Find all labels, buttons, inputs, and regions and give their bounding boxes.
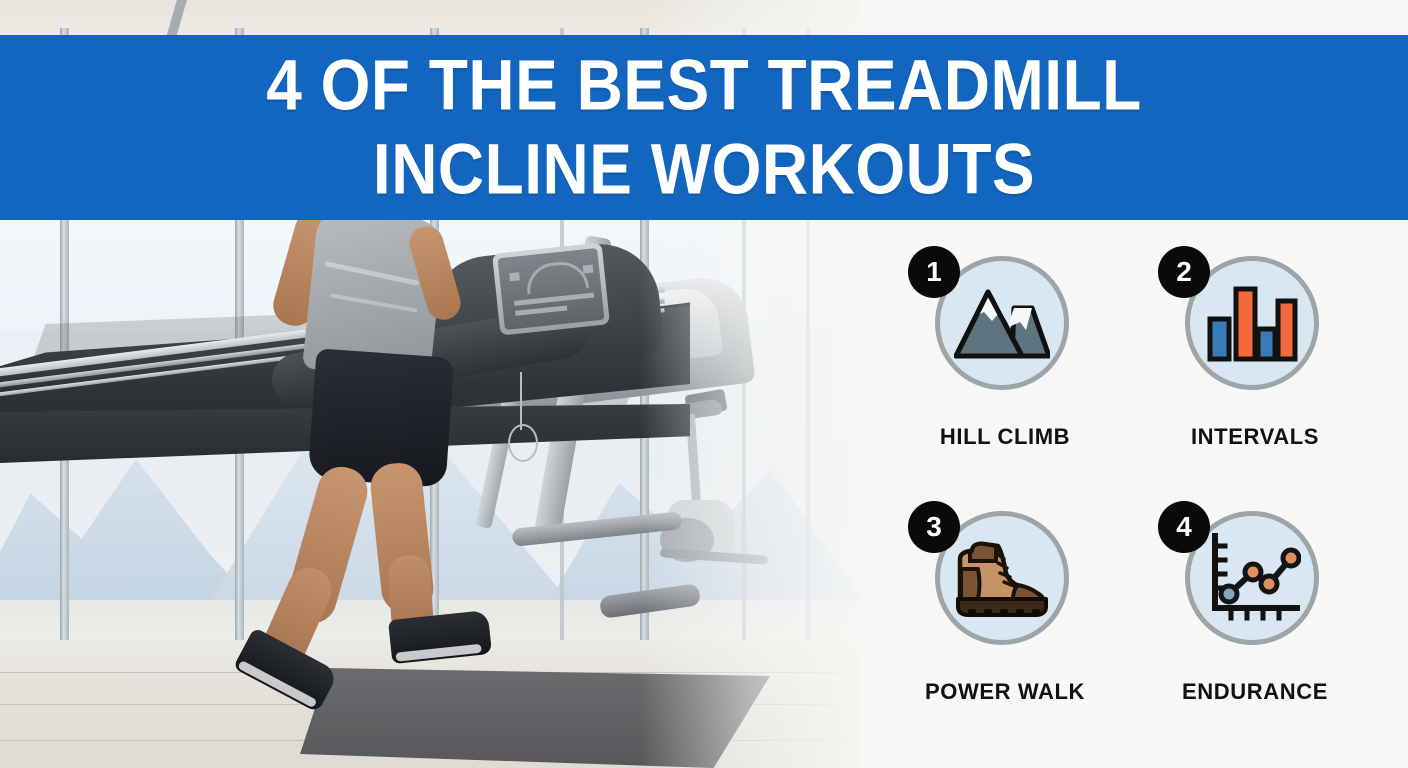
badge-label: 4 (1176, 511, 1192, 543)
workout-grid: 1 HILL CLIMB 2 (880, 246, 1380, 746)
badge-label: 3 (926, 511, 942, 543)
hiking-boot-icon (952, 537, 1052, 619)
workout-label-hill-climb: HILL CLIMB (880, 424, 1130, 450)
runner-figure (250, 215, 550, 685)
runner-shoe-front (388, 610, 492, 664)
workout-label-power-walk: POWER WALK (880, 679, 1130, 705)
shoe-sole (395, 644, 481, 662)
infographic-canvas: 4 OF THE BEST TREADMILL INCLINE WORKOUTS… (0, 0, 1408, 768)
bar-chart-icon (1206, 283, 1298, 363)
line-chart-icon (1203, 532, 1301, 624)
mountain-icon (954, 286, 1050, 360)
workout-label-intervals: INTERVALS (1130, 424, 1380, 450)
badge-number-1: 1 (908, 246, 960, 298)
page-title-line-2: INCLINE WORKOUTS (373, 133, 1035, 206)
badge-label: 2 (1176, 256, 1192, 288)
badge-number-3: 3 (908, 501, 960, 553)
workout-card-endurance[interactable]: 4 ENDURANCE (1130, 501, 1380, 751)
workout-card-power-walk[interactable]: 3 (880, 501, 1130, 751)
badge-number-4: 4 (1158, 501, 1210, 553)
workout-card-intervals[interactable]: 2 INTERVALS (1130, 246, 1380, 496)
title-banner: 4 OF THE BEST TREADMILL INCLINE WORKOUTS (0, 35, 1408, 220)
workout-card-hill-climb[interactable]: 1 HILL CLIMB (880, 246, 1130, 496)
badge-label: 1 (926, 256, 942, 288)
console-indicator (583, 265, 594, 274)
workout-label-endurance: ENDURANCE (1130, 679, 1380, 705)
page-title-line-1: 4 OF THE BEST TREADMILL (266, 49, 1142, 122)
badge-number-2: 2 (1158, 246, 1210, 298)
